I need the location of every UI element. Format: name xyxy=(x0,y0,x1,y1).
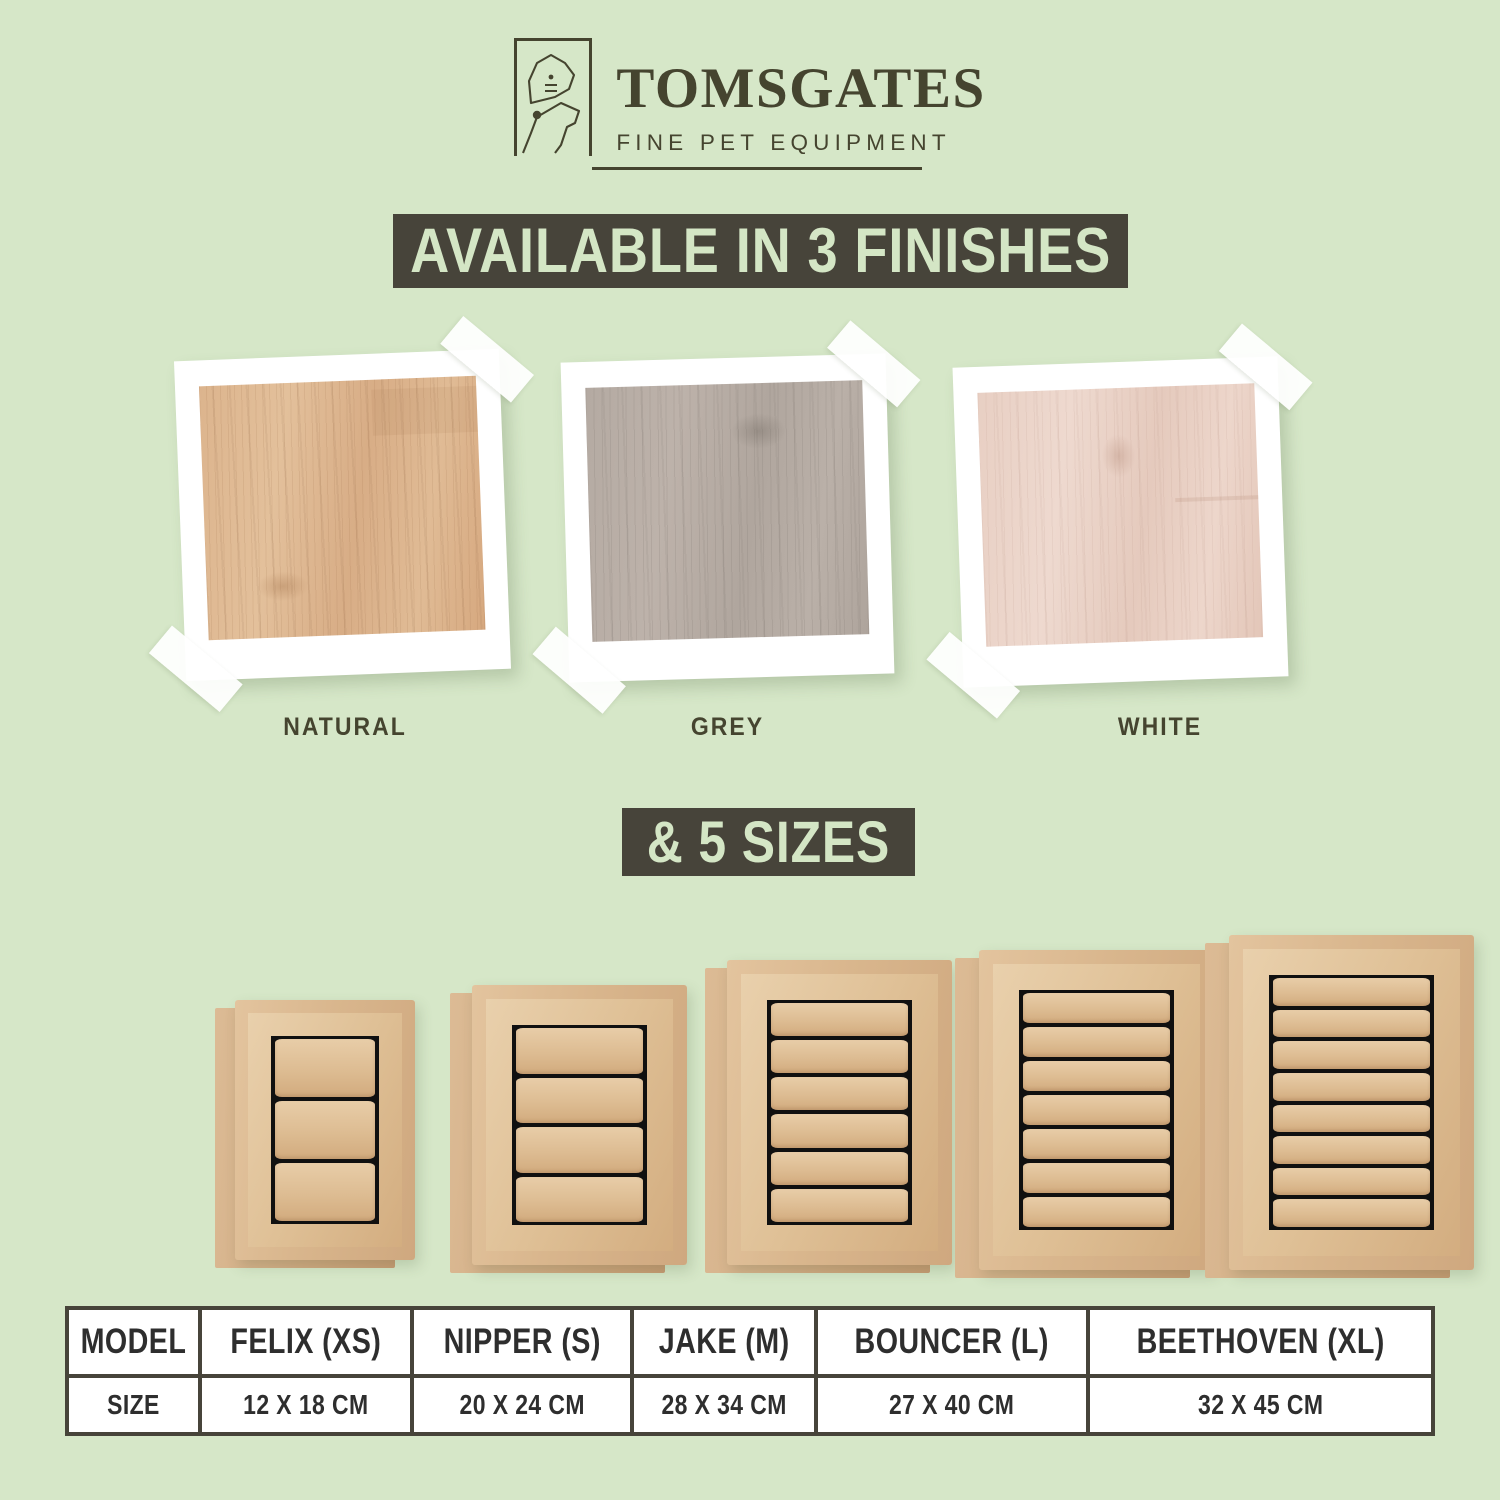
sizes-banner: & 5 SIZES xyxy=(622,808,915,876)
finish-label-grey-text: GREY xyxy=(665,713,789,742)
product-door-nipper-s xyxy=(450,985,687,1273)
door-flap-slat xyxy=(1023,1129,1170,1159)
door-flap-slat xyxy=(1273,978,1430,1006)
door-flap-slat xyxy=(1023,1095,1170,1125)
door-flap-slat xyxy=(1273,1168,1430,1196)
door-flap-slat xyxy=(275,1163,375,1221)
finish-label-natural-text: NATURAL xyxy=(258,713,433,742)
door-flap-slat xyxy=(1023,993,1170,1023)
door-front-frame xyxy=(1229,935,1474,1270)
table-cell-model-2: JAKE (M) xyxy=(632,1308,816,1376)
door-flap-opening xyxy=(1019,990,1174,1230)
finish-swatch-white xyxy=(953,356,1289,687)
door-flap-slat xyxy=(1273,1073,1430,1101)
door-flap-slat xyxy=(1273,1105,1430,1133)
door-flap-slat xyxy=(516,1028,643,1074)
door-front-frame xyxy=(472,985,687,1265)
door-flap-slat xyxy=(771,1152,908,1185)
swatch-image-grey xyxy=(585,380,869,642)
door-flap-slat xyxy=(1023,1163,1170,1193)
door-flap-slat xyxy=(516,1127,643,1173)
door-flap-slat xyxy=(1023,1061,1170,1091)
door-flap-opening xyxy=(1269,975,1434,1230)
size-table: MODEL FELIX (XS) NIPPER (S) JAKE (M) BOU… xyxy=(65,1306,1435,1436)
door-flap-opening xyxy=(512,1025,647,1225)
table-header-model: MODEL xyxy=(67,1308,200,1376)
finish-label-white-text: WHITE xyxy=(1096,713,1225,742)
product-door-felix-xs xyxy=(215,1000,415,1268)
door-flap-slat xyxy=(275,1039,375,1097)
logo-divider xyxy=(592,167,922,170)
product-door-bouncer-l xyxy=(955,950,1214,1278)
sizes-banner-text: & 5 SIZES xyxy=(647,809,890,876)
door-flap-slat xyxy=(771,1189,908,1222)
finish-label-natural: NATURAL xyxy=(250,713,440,742)
door-front-frame xyxy=(727,960,952,1265)
swatch-image-white xyxy=(977,383,1263,647)
door-flap-slat xyxy=(1273,1041,1430,1069)
table-cell-size-3: 27 X 40 CM xyxy=(816,1376,1087,1434)
door-flap-opening xyxy=(767,1000,912,1225)
door-flap-slat xyxy=(1023,1197,1170,1227)
table-row-size: SIZE 12 X 18 CM 20 X 24 CM 28 X 34 CM 27… xyxy=(67,1376,1433,1434)
table-cell-size-4: 32 X 45 CM xyxy=(1088,1376,1433,1434)
door-flap-slat xyxy=(1273,1136,1430,1164)
door-flap-slat xyxy=(771,1114,908,1147)
door-flap-slat xyxy=(771,1040,908,1073)
finish-swatch-natural xyxy=(174,349,511,681)
finish-swatch-grey xyxy=(561,354,895,683)
door-front-frame xyxy=(979,950,1214,1270)
finishes-banner: AVAILABLE IN 3 FINISHES xyxy=(393,214,1128,288)
brand-tagline: FINE PET EQUIPMENT xyxy=(616,130,985,156)
pet-head-logo-icon xyxy=(514,38,592,156)
swatch-image-natural xyxy=(199,376,486,640)
door-front-frame xyxy=(235,1000,415,1260)
door-flap-opening xyxy=(271,1036,379,1224)
door-flap-slat xyxy=(275,1101,375,1159)
finishes-banner-text: AVAILABLE IN 3 FINISHES xyxy=(410,215,1111,287)
table-cell-model-3: BOUNCER (L) xyxy=(816,1308,1087,1376)
brand-name: TOMSGATES xyxy=(616,60,985,117)
door-flap-slat xyxy=(1023,1027,1170,1057)
door-flap-slat xyxy=(516,1177,643,1223)
door-flap-slat xyxy=(516,1078,643,1124)
door-flap-slat xyxy=(771,1003,908,1036)
table-header-size: SIZE xyxy=(67,1376,200,1434)
door-flap-slat xyxy=(1273,1010,1430,1038)
table-cell-model-1: NIPPER (S) xyxy=(412,1308,632,1376)
product-door-jake-m xyxy=(705,960,952,1273)
finish-label-white: WHITE xyxy=(1090,713,1230,742)
table-cell-size-1: 20 X 24 CM xyxy=(412,1376,632,1434)
table-cell-size-2: 28 X 34 CM xyxy=(632,1376,816,1434)
door-flap-slat xyxy=(1273,1199,1430,1227)
table-cell-model-4: BEETHOVEN (XL) xyxy=(1088,1308,1433,1376)
product-door-beethoven-xl xyxy=(1205,935,1474,1278)
table-row-model: MODEL FELIX (XS) NIPPER (S) JAKE (M) BOU… xyxy=(67,1308,1433,1376)
door-flap-slat xyxy=(771,1077,908,1110)
table-cell-model-0: FELIX (XS) xyxy=(200,1308,412,1376)
brand-logo: TOMSGATES FINE PET EQUIPMENT xyxy=(0,38,1500,170)
finish-label-grey: GREY xyxy=(660,713,795,742)
table-cell-size-0: 12 X 18 CM xyxy=(200,1376,412,1434)
